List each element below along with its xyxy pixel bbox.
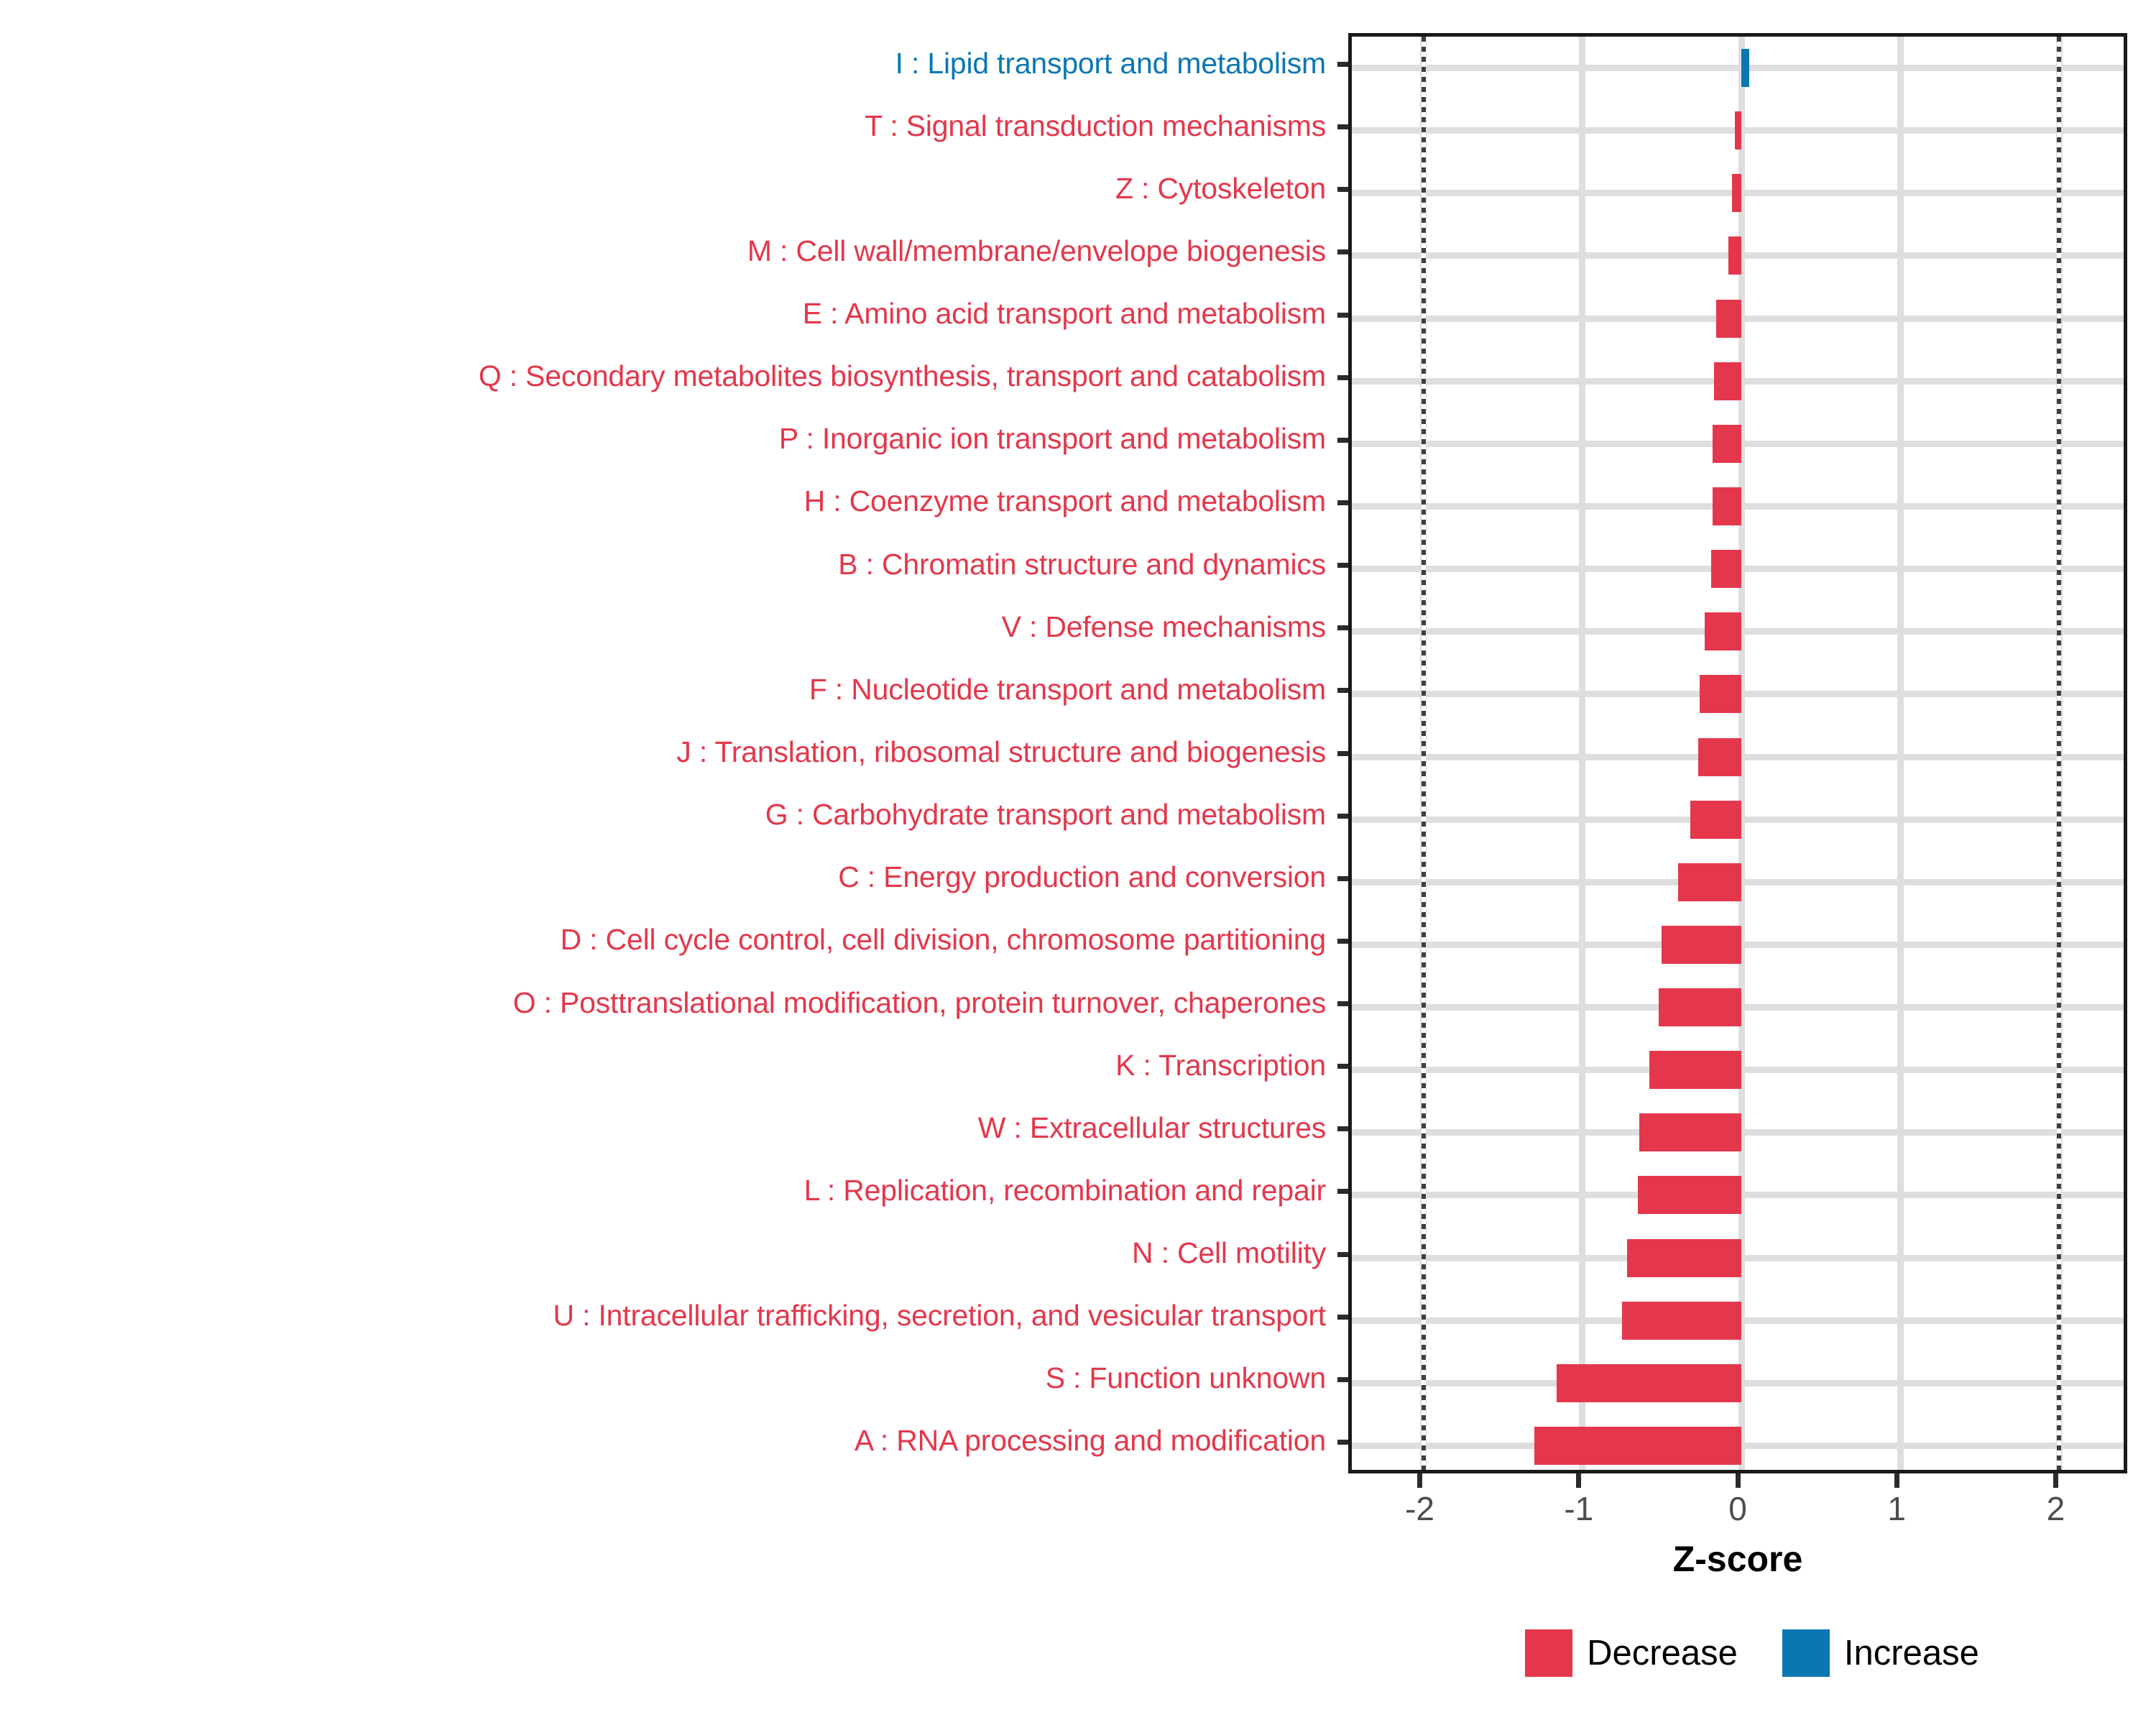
category-label: L : Replication, recombination and repai… — [0, 1176, 1326, 1205]
y-axis-tick — [1337, 1252, 1348, 1257]
category-label: A : RNA processing and modification — [0, 1426, 1326, 1455]
x-axis-tick — [1417, 1473, 1422, 1488]
category-label: F : Nucleotide transport and metabolism — [0, 675, 1326, 704]
bar — [1557, 1364, 1741, 1402]
category-label: P : Inorganic ion transport and metaboli… — [0, 424, 1326, 454]
x-axis-tick-label: 0 — [1728, 1489, 1747, 1528]
bar — [1714, 362, 1741, 400]
bar — [1649, 1051, 1741, 1089]
legend-swatch-up-icon — [1782, 1629, 1830, 1677]
y-axis-tick — [1337, 1189, 1348, 1194]
bar — [1622, 1302, 1741, 1340]
bar — [1698, 738, 1741, 776]
category-label: C : Energy production and conversion — [0, 862, 1326, 892]
category-label: J : Translation, ribosomal structure and… — [0, 737, 1326, 767]
y-axis-tick — [1337, 1001, 1348, 1006]
y-axis-tick — [1337, 249, 1348, 254]
bar — [1639, 1113, 1741, 1151]
category-label: H : Coenzyme transport and metabolism — [0, 487, 1326, 516]
cog-z-score-bar-chart: I : Lipid transport and metabolismT : Si… — [0, 0, 2156, 1725]
x-axis-tick-label: -2 — [1405, 1489, 1434, 1528]
y-axis-tick — [1337, 438, 1348, 443]
y-axis-tick — [1337, 814, 1348, 819]
legend-item[interactable]: Decrease — [1525, 1629, 1738, 1677]
bar — [1711, 550, 1741, 588]
x-axis-tick — [1576, 1473, 1581, 1488]
bar — [1732, 174, 1741, 212]
bar — [1741, 49, 1749, 87]
category-label: I : Lipid transport and metabolism — [0, 49, 1326, 78]
bar — [1735, 111, 1741, 149]
y-axis-tick — [1337, 62, 1348, 67]
category-label: E : Amino acid transport and metabolism — [0, 299, 1326, 328]
category-label: O : Posttranslational modification, prot… — [0, 988, 1326, 1018]
y-axis-tick — [1337, 625, 1348, 630]
x-axis-tick — [1894, 1473, 1899, 1488]
y-axis-tick — [1337, 375, 1348, 380]
plot-panel-inner — [1352, 37, 2124, 1470]
bar — [1713, 487, 1741, 525]
bar — [1713, 425, 1741, 463]
bar — [1638, 1176, 1741, 1214]
x-axis-tick — [2053, 1473, 2058, 1488]
bar — [1728, 236, 1741, 275]
reference-line — [2057, 37, 2061, 1470]
y-axis-tick — [1337, 688, 1348, 693]
category-label: N : Cell motility — [0, 1238, 1326, 1268]
category-label: U : Intracellular trafficking, secretion… — [0, 1301, 1326, 1330]
gridline-vertical — [1579, 37, 1585, 1470]
y-axis-tick — [1337, 187, 1348, 192]
x-axis-tick-label: 1 — [1887, 1489, 1906, 1528]
bar — [1700, 675, 1741, 713]
legend-item[interactable]: Increase — [1782, 1629, 1979, 1677]
y-axis-tick — [1337, 751, 1348, 756]
category-label: S : Function unknown — [0, 1363, 1326, 1393]
category-label: Q : Secondary metabolites biosynthesis, … — [0, 362, 1326, 391]
gridline-vertical — [1897, 37, 1904, 1470]
bar — [1627, 1239, 1741, 1277]
y-axis-tick — [1337, 313, 1348, 318]
category-label: D : Cell cycle control, cell division, c… — [0, 925, 1326, 954]
y-axis-tick — [1337, 939, 1348, 944]
y-axis-tick — [1337, 1315, 1348, 1320]
legend-swatch-down-icon — [1525, 1629, 1572, 1677]
category-label: B : Chromatin structure and dynamics — [0, 550, 1326, 579]
legend: DecreaseIncrease — [1348, 1621, 2156, 1685]
category-label: Z : Cytoskeleton — [0, 174, 1326, 203]
legend-label: Decrease — [1587, 1633, 1738, 1673]
y-axis-tick — [1337, 124, 1348, 129]
x-axis-title: Z-score — [1348, 1538, 2127, 1580]
y-axis-tick — [1337, 1126, 1348, 1131]
category-label: V : Defense mechanisms — [0, 612, 1326, 642]
category-label: M : Cell wall/membrane/envelope biogenes… — [0, 236, 1326, 266]
bar — [1534, 1427, 1741, 1465]
category-label: T : Signal transduction mechanisms — [0, 111, 1326, 141]
bar — [1659, 988, 1741, 1026]
category-label: G : Carbohydrate transport and metabolis… — [0, 800, 1326, 829]
x-axis-tick-label: -1 — [1564, 1489, 1593, 1528]
y-axis-tick — [1337, 876, 1348, 881]
x-axis-tick — [1736, 1473, 1741, 1488]
bar — [1662, 926, 1741, 964]
y-axis-tick — [1337, 500, 1348, 505]
legend-label: Increase — [1844, 1633, 1979, 1673]
category-label: W : Extracellular structures — [0, 1113, 1326, 1143]
y-axis-tick — [1337, 1064, 1348, 1069]
bar — [1705, 612, 1741, 650]
bar — [1690, 801, 1741, 839]
bar — [1716, 300, 1741, 338]
y-axis-tick — [1337, 1440, 1348, 1445]
reference-line — [1422, 37, 1426, 1470]
bar — [1678, 863, 1741, 901]
plot-panel — [1348, 33, 2127, 1473]
category-axis-labels: I : Lipid transport and metabolismT : Si… — [0, 33, 1326, 1473]
x-axis-tick-label: 2 — [2047, 1489, 2065, 1528]
category-label: K : Transcription — [0, 1051, 1326, 1080]
y-axis-tick — [1337, 1377, 1348, 1382]
y-axis-tick — [1337, 563, 1348, 568]
